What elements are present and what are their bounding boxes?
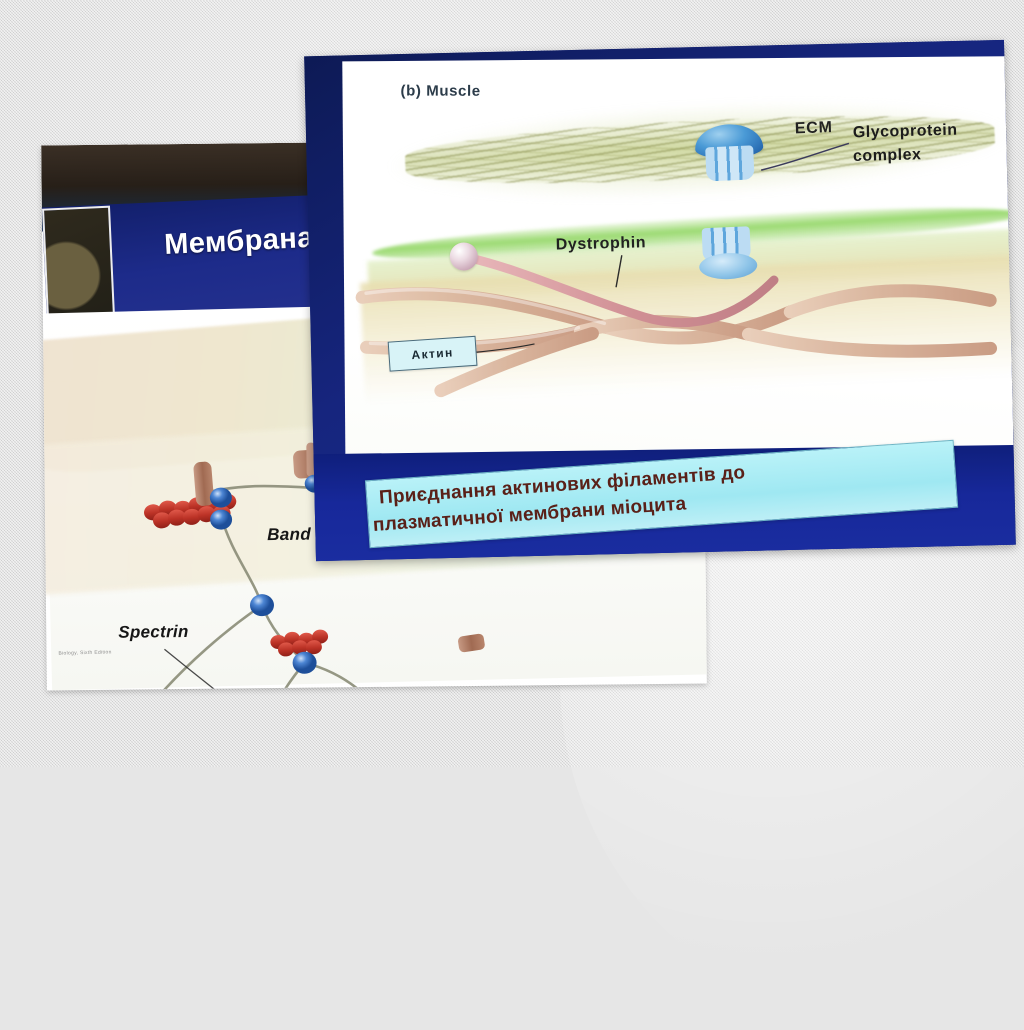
dystrophin-head-icon	[450, 242, 478, 270]
right-slide-diagram-area: (b) Muscle ECM	[342, 56, 1013, 476]
left-label-spectrin: Spectrin	[118, 622, 189, 643]
right-slide-vectors	[342, 56, 1013, 476]
label-actin-text: Актин	[411, 345, 454, 362]
label-dystrophin: Dystrophin	[556, 234, 647, 254]
label-box-actin: Актин	[388, 336, 478, 372]
label-glycoprotein-complex: complex	[853, 146, 922, 166]
left-slide-credit: Biology, Sixth Edition	[58, 649, 111, 656]
label-glycoprotein: Glycoprotein	[853, 122, 958, 143]
right-slide-photo[interactable]: (b) Muscle ECM	[304, 40, 1016, 561]
